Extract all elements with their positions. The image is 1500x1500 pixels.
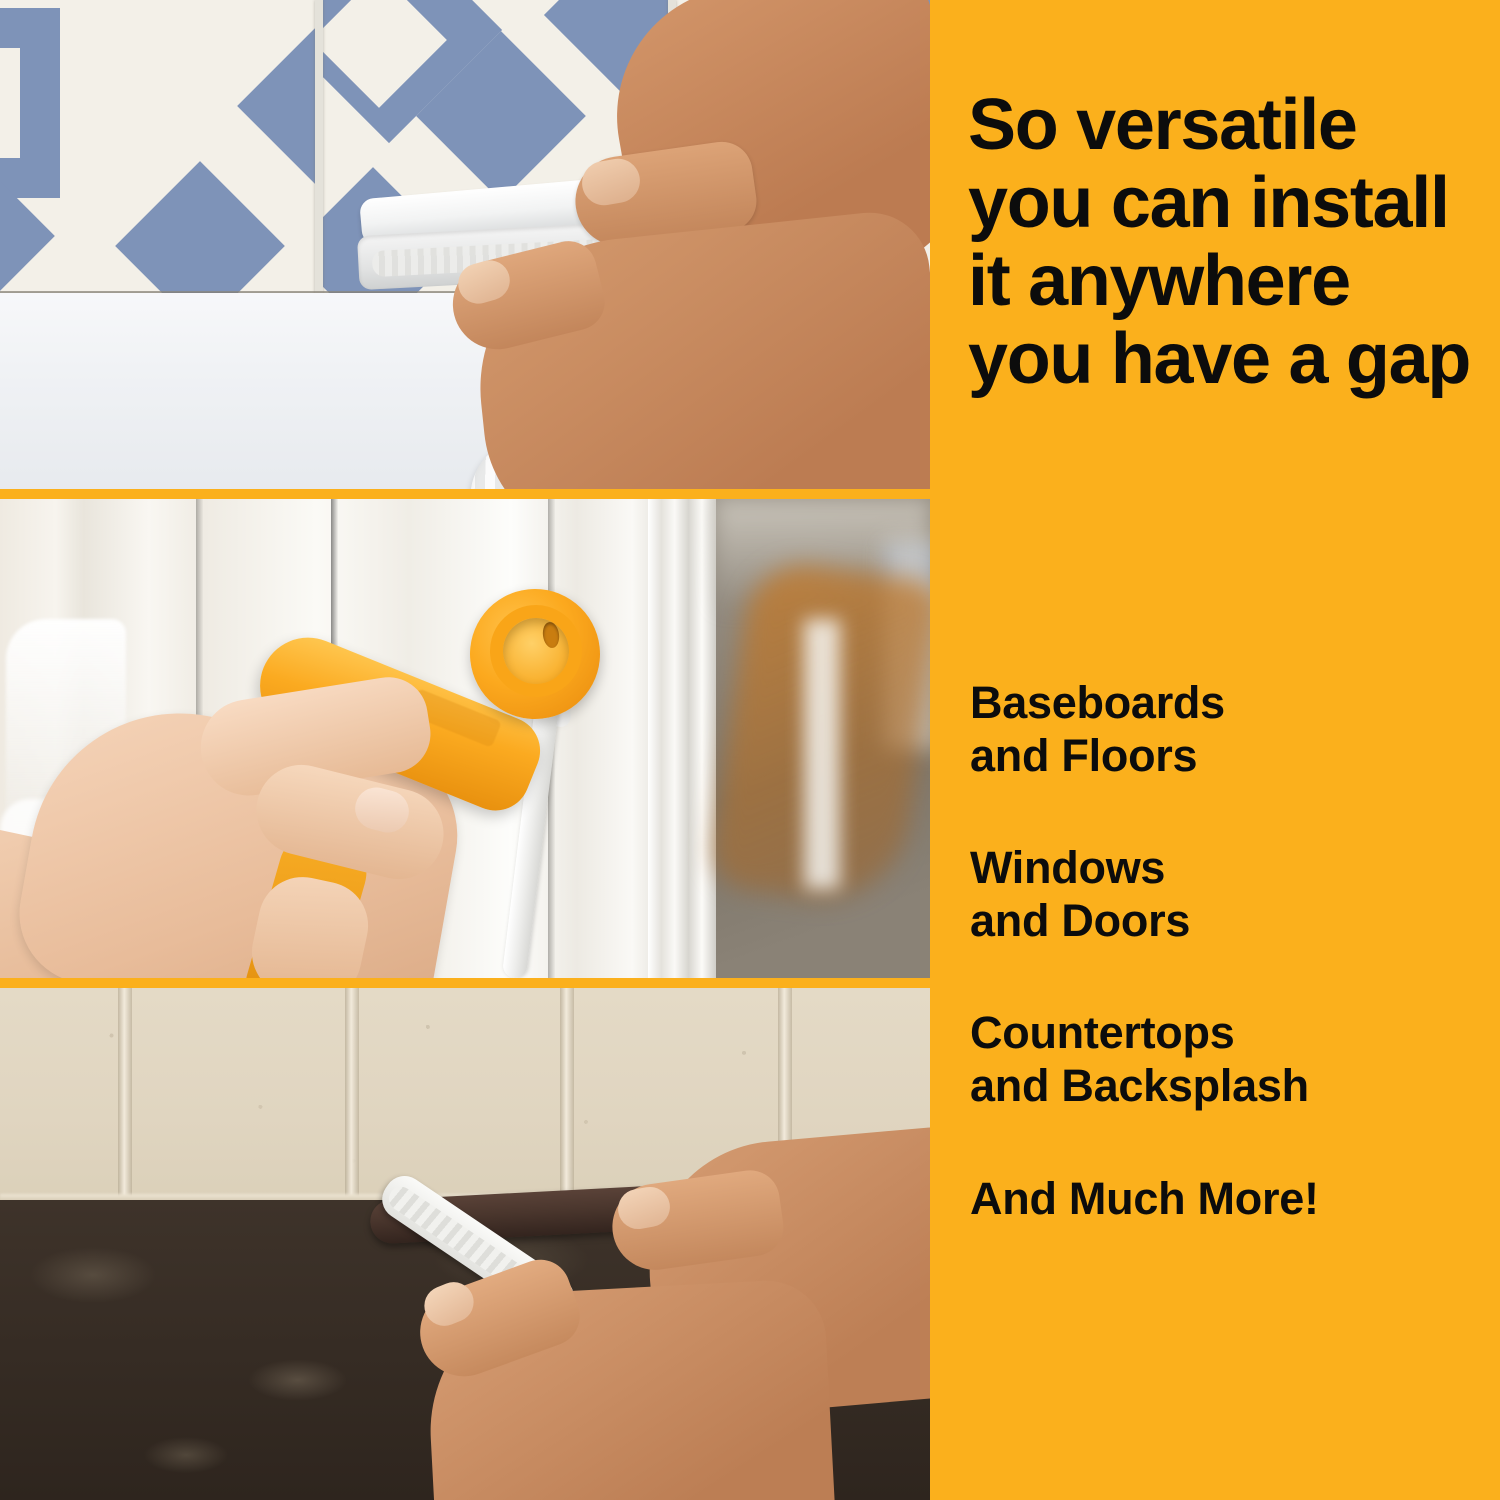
tile-diamond-motif	[115, 161, 285, 300]
headline: So versatile you can install it anywhere…	[968, 86, 1478, 398]
use-case-item-more: And Much More!	[970, 1172, 1490, 1225]
use-case-item-countertops: Countertops and Backsplash	[970, 1006, 1490, 1112]
text-panel: So versatile you can install it anywhere…	[930, 0, 1500, 1500]
window-frame-rail	[688, 499, 716, 978]
glass-reflection	[804, 619, 840, 889]
tile-grout-line	[560, 988, 574, 1214]
photo-column	[0, 0, 930, 1500]
window-frame-rail	[648, 499, 688, 978]
use-case-item-windows: Windows and Doors	[970, 841, 1490, 947]
use-case-list: Baseboards and Floors Windows and Doors …	[970, 676, 1490, 1225]
tile-unit	[0, 0, 315, 300]
tile-grout-line	[315, 0, 323, 300]
photo-divider	[0, 489, 930, 499]
tile-diamond-motif	[237, 21, 315, 191]
product-infographic-poster: So versatile you can install it anywhere…	[0, 0, 1500, 1500]
tile-grout-line	[118, 988, 132, 1214]
window-frame-photo	[0, 499, 930, 978]
tile-square-motif	[0, 8, 60, 198]
photo-divider	[0, 978, 930, 988]
use-case-item-baseboards: Baseboards and Floors	[970, 676, 1490, 782]
countertop-backsplash-photo	[0, 988, 930, 1500]
tile-backsplash-photo	[0, 0, 930, 489]
tile-grout-line	[345, 988, 359, 1214]
window-glass	[716, 499, 930, 978]
